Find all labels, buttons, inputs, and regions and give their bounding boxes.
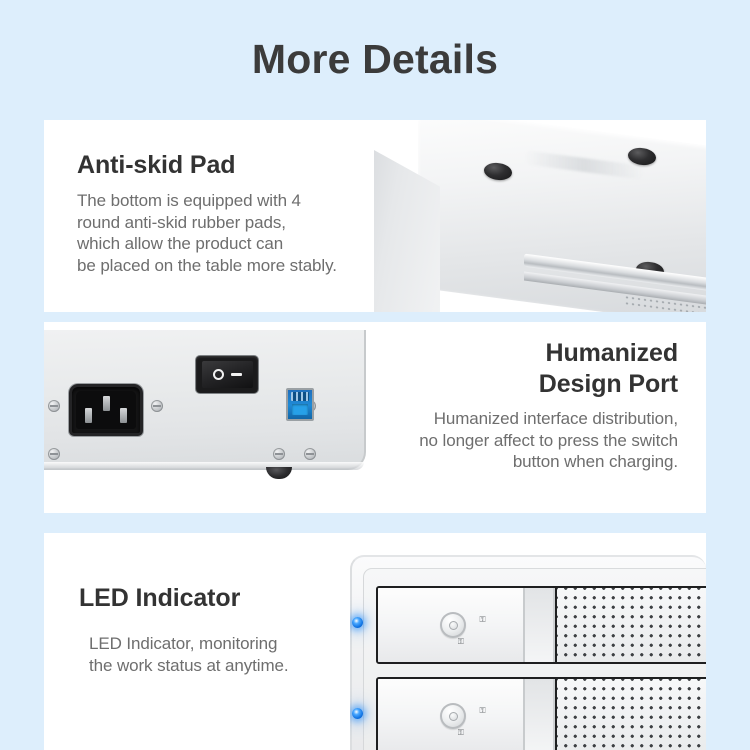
led-indicator-icon — [352, 617, 363, 628]
screw-icon — [48, 448, 60, 460]
body-line: the work status at anytime. — [89, 655, 379, 677]
panel-heading: Anti-skid Pad — [77, 150, 407, 181]
panel-text-block: LED Indicator LED Indicator, monitoring … — [79, 583, 379, 676]
rubber-foot-icon — [266, 467, 292, 479]
heading-line: Design Port — [348, 369, 678, 400]
product-photo-drive-bays: ⚿ ⚿ ⚿ ⚿ — [350, 555, 706, 750]
usb-port-lower-cavity — [292, 404, 308, 415]
drive-bay-slot-gap — [525, 679, 555, 750]
panel-body: Humanized interface distribution, no lon… — [348, 408, 678, 473]
drive-bay-vent-mesh — [555, 679, 706, 750]
feature-panel-led-indicator: LED Indicator LED Indicator, monitoring … — [44, 533, 706, 750]
panel-text-block: Humanized Design Port Humanized interfac… — [348, 338, 678, 473]
drive-bay[interactable]: ⚿ ⚿ — [376, 677, 706, 750]
power-inlet-pin — [85, 408, 92, 423]
body-line: be placed on the table more stably. — [77, 255, 407, 277]
power-inlet-cavity — [76, 391, 136, 429]
lock-closed-glyph-icon: ⚿ — [458, 729, 464, 737]
panel-heading: Humanized Design Port — [348, 338, 678, 400]
rear-panel-plate — [44, 330, 366, 470]
lock-open-glyph-icon: ⚿ — [479, 616, 485, 624]
panel-body: The bottom is equipped with 4 round anti… — [77, 190, 407, 276]
panel-text-block: Anti-skid Pad The bottom is equipped wit… — [77, 150, 407, 276]
drive-bay-lock-icon[interactable] — [440, 612, 466, 638]
page-title: More Details — [0, 36, 750, 83]
drive-bay-handle[interactable]: ⚿ ⚿ — [378, 679, 525, 750]
body-line: which allow the product can — [77, 233, 407, 255]
body-line: round anti-skid rubber pads, — [77, 212, 407, 234]
feature-panel-humanized-design-port: Humanized Design Port Humanized interfac… — [44, 322, 706, 513]
body-line: LED Indicator, monitoring — [89, 633, 379, 655]
panel-body: LED Indicator, monitoring the work statu… — [79, 633, 379, 676]
usb-port-upper-contacts — [291, 392, 309, 401]
power-inlet-pin — [103, 396, 110, 411]
body-line: The bottom is equipped with 4 — [77, 190, 407, 212]
usb-3-type-b-port — [286, 388, 314, 421]
body-line: Humanized interface distribution, — [348, 408, 678, 430]
drive-bay[interactable]: ⚿ ⚿ — [376, 586, 706, 664]
heading-line: Humanized — [348, 338, 678, 369]
drive-bay-lock-icon[interactable] — [440, 703, 466, 729]
drive-enclosure-chassis: ⚿ ⚿ ⚿ ⚿ — [350, 555, 706, 750]
screw-icon — [273, 448, 285, 460]
body-line: no longer affect to press the switch — [348, 430, 678, 452]
product-detail-page: More Details Anti-skid Pad The bottom is… — [0, 0, 750, 750]
power-switch-face[interactable] — [202, 361, 253, 388]
product-photo-enclosure-bottom — [374, 120, 706, 312]
power-inlet-iec-c14 — [69, 384, 143, 436]
lock-closed-glyph-icon: ⚿ — [458, 638, 464, 646]
body-line: button when charging. — [348, 451, 678, 473]
power-switch-rocker[interactable] — [196, 356, 258, 393]
power-off-symbol-icon — [213, 369, 224, 380]
screw-icon — [304, 448, 316, 460]
power-inlet-pin — [120, 408, 127, 423]
drive-bay-slot-gap — [525, 588, 555, 662]
screw-icon — [151, 400, 163, 412]
screw-icon — [48, 400, 60, 412]
product-photo-rear-io-panel — [44, 322, 374, 513]
power-on-symbol-icon — [231, 373, 242, 375]
feature-panel-anti-skid-pad: Anti-skid Pad The bottom is equipped wit… — [44, 120, 706, 312]
led-indicator-icon — [352, 708, 363, 719]
drive-bay-vent-mesh — [555, 588, 706, 662]
panel-heading: LED Indicator — [79, 583, 379, 614]
lock-open-glyph-icon: ⚿ — [479, 707, 485, 715]
drive-bay-handle[interactable]: ⚿ ⚿ — [378, 588, 525, 662]
